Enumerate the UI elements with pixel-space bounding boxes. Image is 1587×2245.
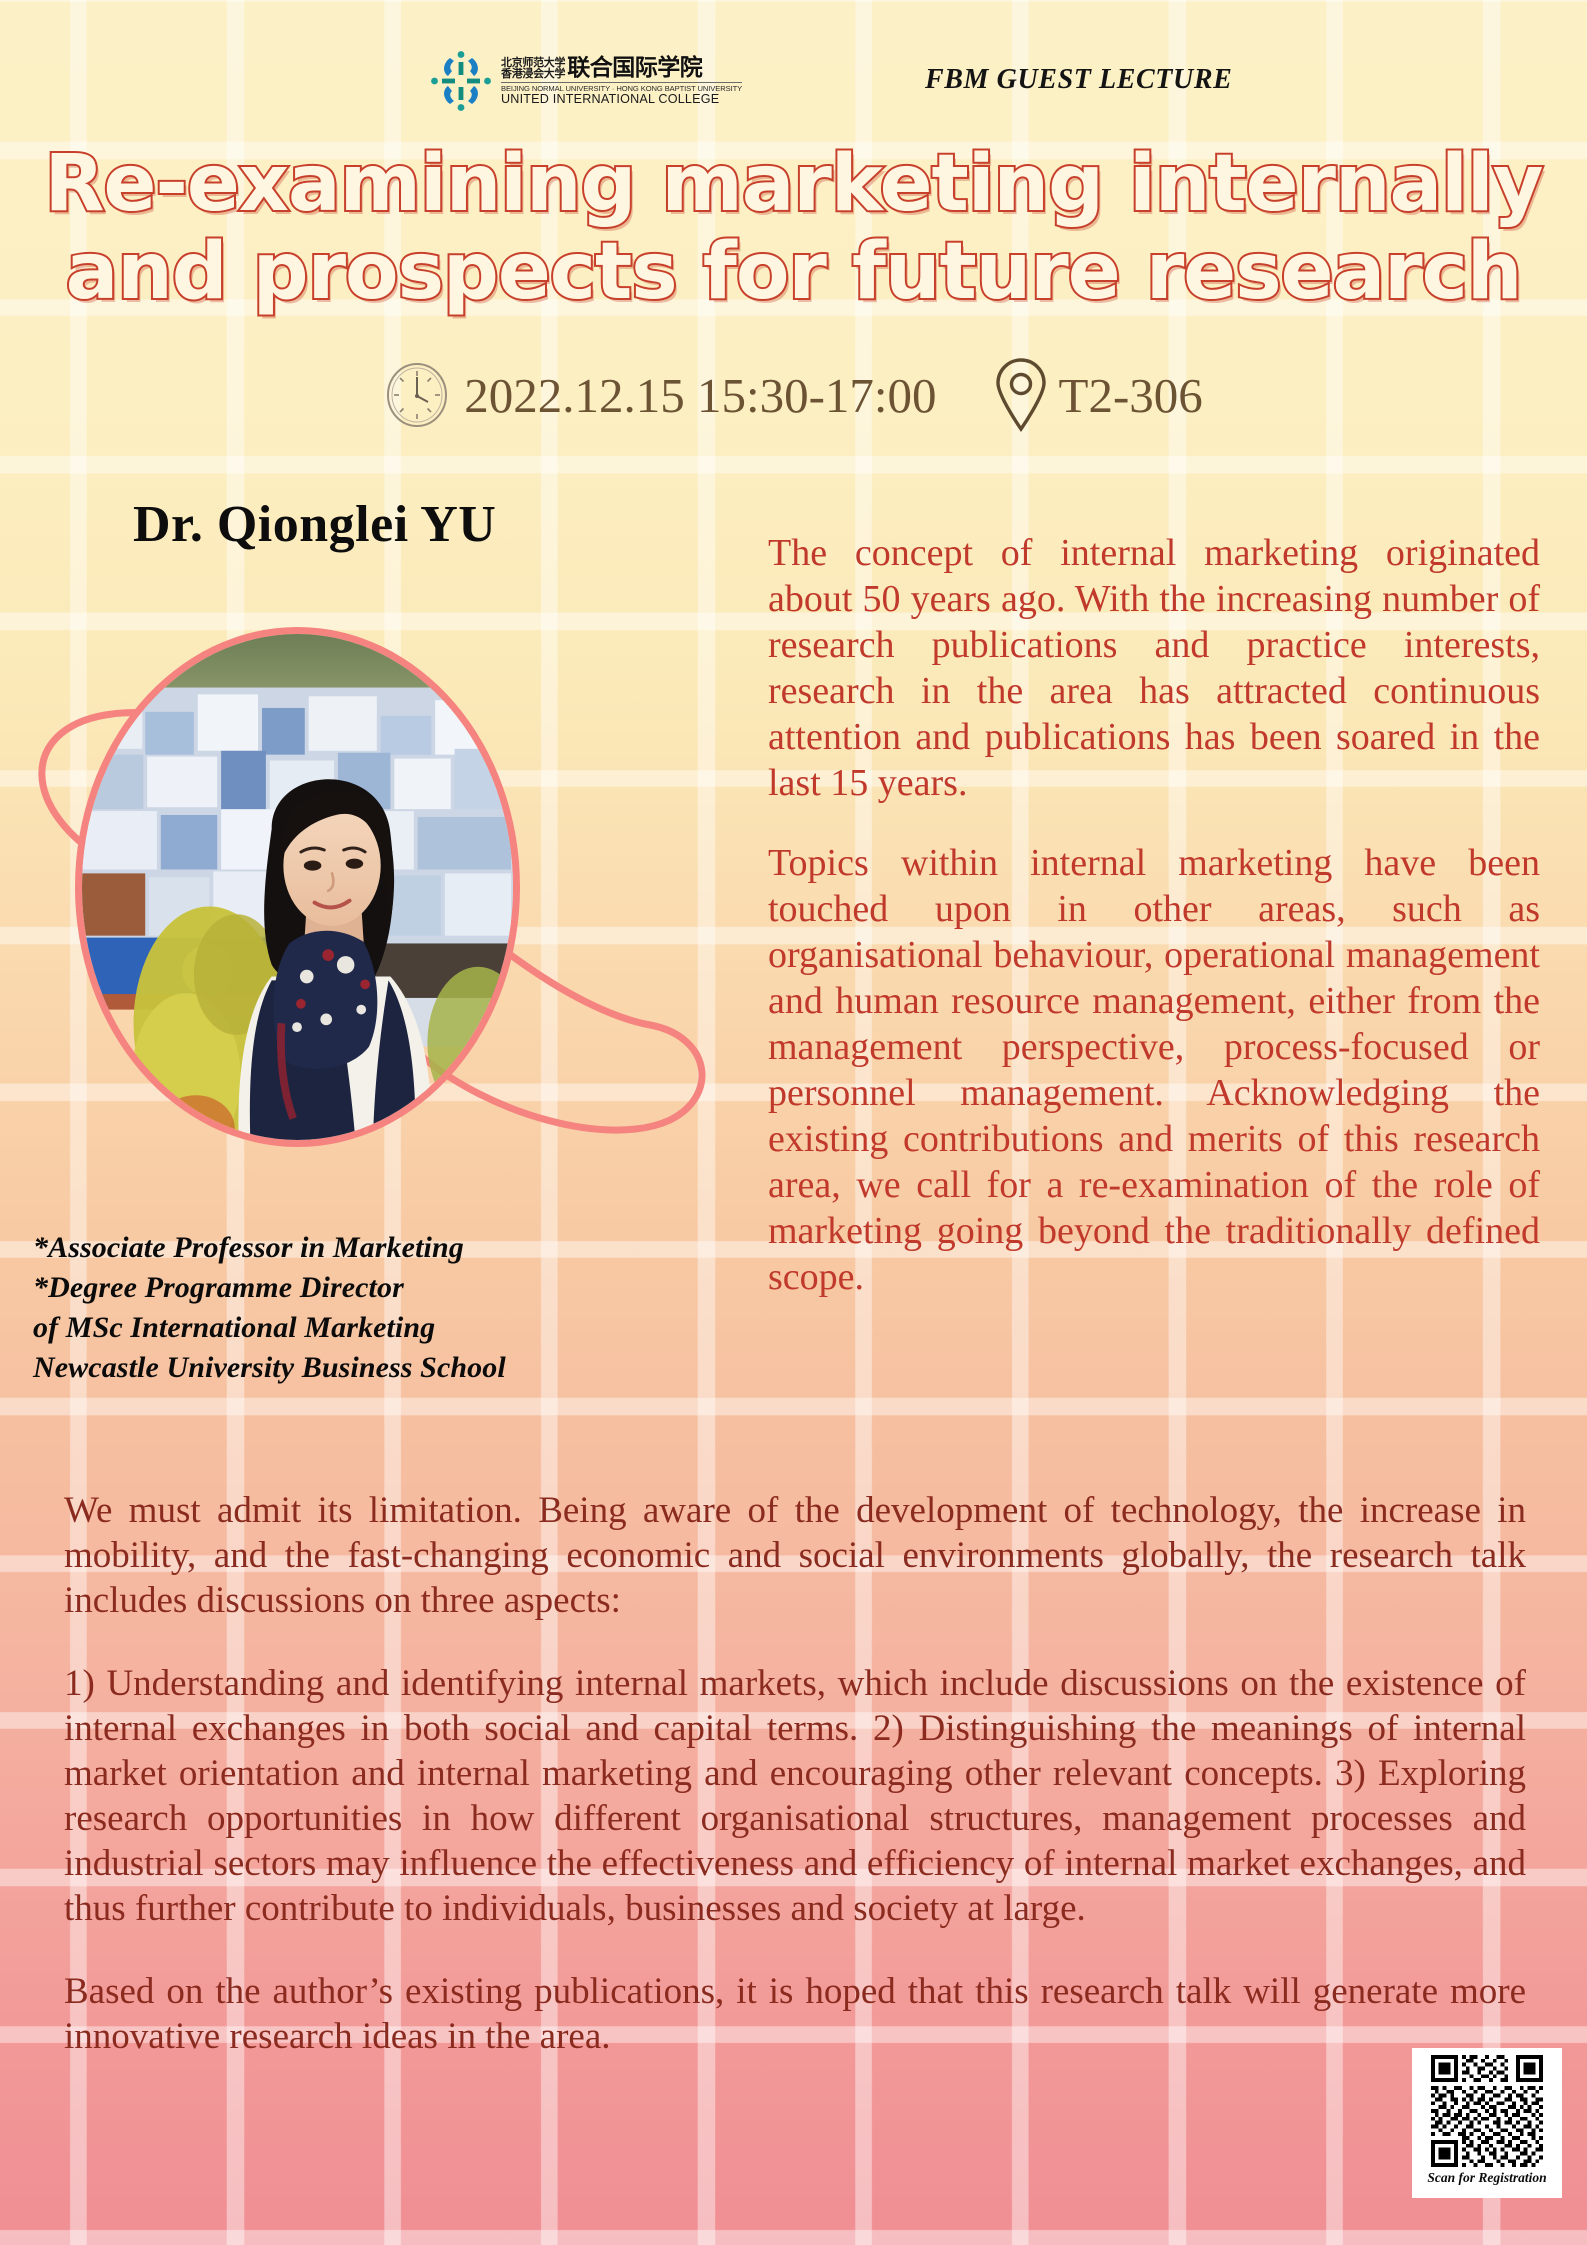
event-datetime: 2022.12.15 15:30-17:00 — [384, 362, 936, 428]
speaker-name: Dr. Qionglei YU — [133, 495, 496, 554]
poster-header: 北京师范大学 香港浸会大学 联合国际学院 BEIJING NORMAL UNIV… — [0, 24, 1587, 104]
clock-icon — [384, 362, 450, 428]
abstract-paragraph: Topics within internal marketing have be… — [768, 840, 1540, 1300]
body-text: We must admit its limitation. Being awar… — [64, 1488, 1526, 2059]
speaker-photo-area — [10, 595, 730, 1215]
body-paragraph: 1) Understanding and identifying interna… — [64, 1661, 1526, 1931]
logo-en-line2: UNITED INTERNATIONAL COLLEGE — [501, 93, 742, 106]
speaker-photo — [75, 627, 520, 1147]
event-venue-text: T2-306 — [1059, 367, 1203, 424]
location-pin-icon — [993, 358, 1049, 432]
credential-line: Newcastle University Business School — [33, 1348, 753, 1388]
qr-code-icon[interactable] — [1428, 2055, 1546, 2167]
credential-line: *Associate Professor in Marketing — [33, 1228, 753, 1268]
qr-caption: Scan for Registration — [1427, 2170, 1546, 2186]
poster-root: 北京师范大学 香港浸会大学 联合国际学院 BEIJING NORMAL UNIV… — [0, 0, 1587, 2245]
title-line-1: Re-examining marketing internally — [0, 140, 1587, 228]
registration-qr-card[interactable]: Scan for Registration — [1412, 2048, 1562, 2198]
body-paragraph: Based on the author’s existing publicati… — [64, 1969, 1526, 2059]
speaker-credentials: *Associate Professor in Marketing *Degre… — [33, 1228, 753, 1388]
event-datetime-text: 2022.12.15 15:30-17:00 — [464, 367, 936, 424]
uic-logo-icon — [430, 50, 492, 112]
logo-cn-big: 联合国际学院 — [567, 57, 702, 80]
abstract-paragraph: The concept of internal marketing origin… — [768, 530, 1540, 806]
title-line-2: and prospects for future research — [0, 228, 1587, 316]
page-title: Re-examining marketing internally and pr… — [0, 140, 1587, 316]
credential-line: *Degree Programme Director — [33, 1268, 753, 1308]
logo-divider — [501, 82, 742, 83]
event-type-label: FBM GUEST LECTURE — [925, 64, 1325, 96]
event-meta-row: 2022.12.15 15:30-17:00 T2-306 — [0, 358, 1587, 432]
event-venue: T2-306 — [937, 358, 1203, 432]
uic-logo: 北京师范大学 香港浸会大学 联合国际学院 BEIJING NORMAL UNIV… — [430, 50, 742, 112]
abstract-text: The concept of internal marketing origin… — [768, 530, 1540, 1300]
logo-cn-small-line2: 香港浸会大学 — [501, 68, 565, 80]
credential-line: of MSc International Marketing — [33, 1308, 753, 1348]
body-paragraph: We must admit its limitation. Being awar… — [64, 1488, 1526, 1623]
